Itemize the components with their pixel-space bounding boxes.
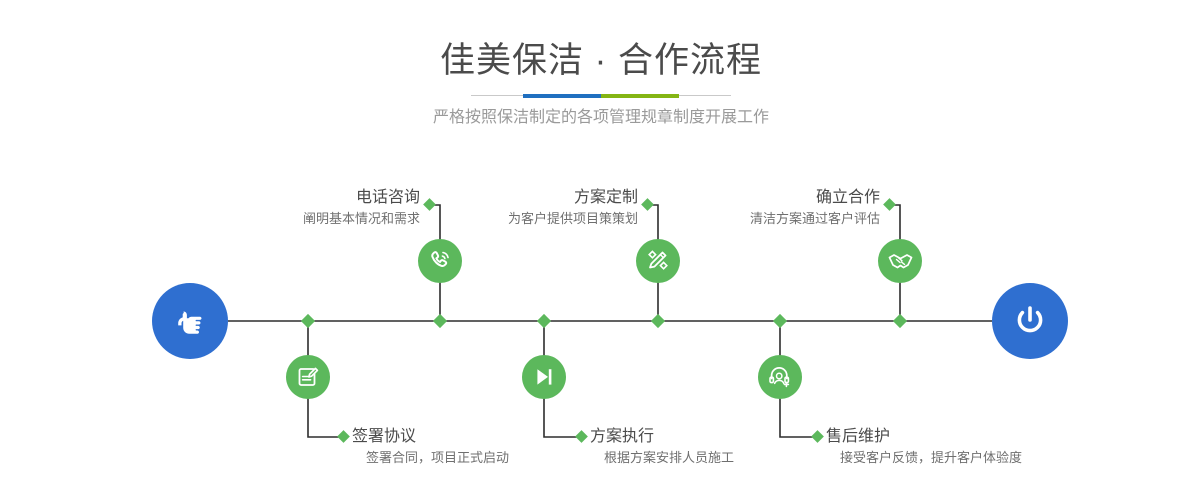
document-edit-icon	[295, 364, 321, 390]
step-subtitle-6: 接受客户反馈，提升客户体验度	[840, 448, 1022, 468]
step-icon-3[interactable]	[636, 239, 680, 283]
handshake-icon	[887, 248, 914, 275]
step-icon-4[interactable]	[522, 355, 566, 399]
step-title-5: 确立合作	[750, 187, 880, 209]
step-subtitle-2: 签署合同，项目正式启动	[366, 448, 509, 468]
step-icon-6[interactable]	[758, 355, 802, 399]
flow-start-node[interactable]	[152, 283, 228, 359]
step-title-3: 方案定制	[508, 187, 638, 209]
step-label-1[interactable]: 电话咨询 阐明基本情况和需求	[303, 187, 420, 229]
pointing-hand-icon	[170, 301, 210, 341]
step-subtitle-4: 根据方案安排人员施工	[604, 448, 734, 468]
step-title-6: 售后维护	[826, 426, 1022, 448]
step-subtitle-3: 为客户提供项目策策划	[508, 209, 638, 229]
step-icon-1[interactable]	[418, 239, 462, 283]
step-label-5[interactable]: 确立合作 清洁方案通过客户评估	[750, 187, 880, 229]
pencil-ruler-icon	[645, 248, 671, 274]
step-icon-2[interactable]	[286, 355, 330, 399]
step-subtitle-1: 阐明基本情况和需求	[303, 209, 420, 229]
step-label-2[interactable]: 签署协议 签署合同，项目正式启动	[352, 426, 509, 468]
step-title-4: 方案执行	[590, 426, 734, 448]
process-flow-infographic: 佳美保洁 · 合作流程 严格按照保洁制定的各项管理规章制度开展工作	[0, 0, 1202, 502]
flow-end-node[interactable]	[992, 283, 1068, 359]
play-skip-icon	[531, 364, 557, 390]
step-label-3[interactable]: 方案定制 为客户提供项目策策划	[508, 187, 638, 229]
step-icon-5[interactable]	[878, 239, 922, 283]
power-icon	[1009, 300, 1051, 342]
step-title-2: 签署协议	[352, 426, 509, 448]
step-title-1: 电话咨询	[303, 187, 420, 209]
step-subtitle-5: 清洁方案通过客户评估	[750, 209, 880, 229]
step-label-6[interactable]: 售后维护 接受客户反馈，提升客户体验度	[826, 426, 1022, 468]
step-label-4[interactable]: 方案执行 根据方案安排人员施工	[590, 426, 734, 468]
phone-call-icon	[427, 248, 453, 274]
flow-diagram: 电话咨询 阐明基本情况和需求 方案定制 为客户提供项目策策划 确立合作 清洁方案…	[0, 0, 1202, 502]
customer-support-icon	[767, 364, 793, 390]
